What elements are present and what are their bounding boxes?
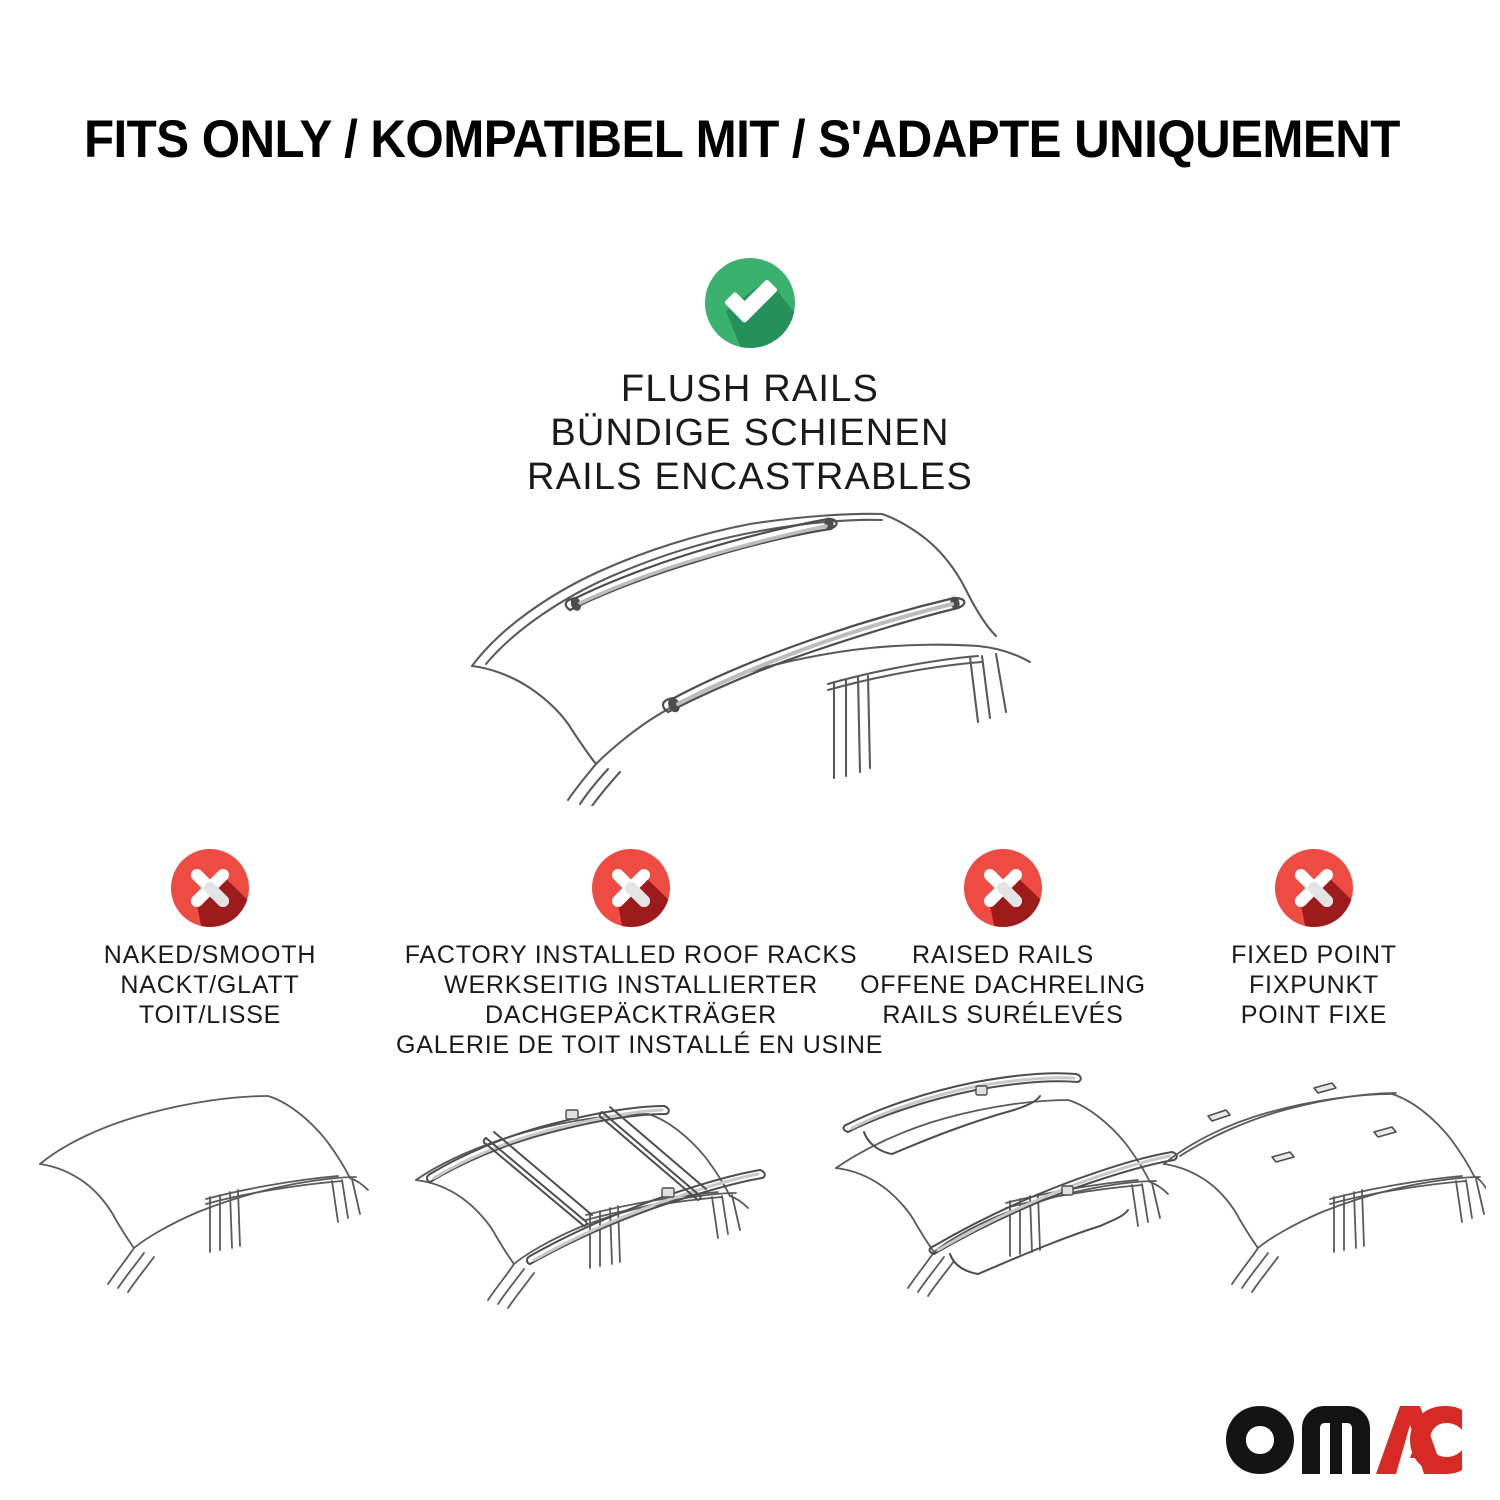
nofit-label-fr: POINT FIXE [1164, 1000, 1464, 1030]
nofit-label-group: RAISED RAILS OFFENE DACHRELING RAILS SUR… [848, 940, 1158, 1030]
nofit-column-naked-smooth: NAKED/SMOOTH NACKT/GLATT TOIT/LISSE [30, 846, 390, 1030]
fits-section: FLUSH RAILS BÜNDIGE SCHIENEN RAILS ENCAS… [0, 255, 1500, 499]
page-title: FITS ONLY / KOMPATIBEL MIT / S'ADAPTE UN… [84, 112, 1400, 168]
x-circle-icon [961, 846, 1045, 930]
header-bar: FITS ONLY / KOMPATIBEL MIT / S'ADAPTE UN… [0, 0, 1500, 210]
nofit-column-raised-rails: RAISED RAILS OFFENE DACHRELING RAILS SUR… [848, 846, 1158, 1030]
car-roof-naked-drawing [30, 1068, 390, 1358]
car-roof-flush-rails-drawing [430, 486, 1070, 806]
nofit-label-en: FIXED POINT [1164, 940, 1464, 970]
nofit-label-en: FACTORY INSTALLED ROOF RACKS [396, 940, 866, 970]
car-roof-factory-rack-drawing [386, 1098, 806, 1378]
fits-label-group: FLUSH RAILS BÜNDIGE SCHIENEN RAILS ENCAS… [0, 367, 1500, 499]
x-circle-icon [168, 846, 252, 930]
nofit-label-de-2: DACHGEPÄCKTRÄGER [396, 1000, 866, 1030]
nofit-label-de: NACKT/GLATT [30, 970, 390, 1000]
nofit-label-fr: GALERIE DE TOIT INSTALLÉ EN USINE [396, 1030, 866, 1060]
x-circle-icon [589, 846, 673, 930]
nofit-label-group: FACTORY INSTALLED ROOF RACKS WERKSEITIG … [396, 940, 866, 1060]
car-roof-raised-rails-drawing [800, 1068, 1200, 1348]
nofit-column-factory-roof-racks: FACTORY INSTALLED ROOF RACKS WERKSEITIG … [396, 846, 866, 1060]
nofit-label-group: NAKED/SMOOTH NACKT/GLATT TOIT/LISSE [30, 940, 390, 1030]
check-circle-icon [702, 255, 798, 351]
nofit-label-fr: RAILS SURÉLEVÉS [848, 1000, 1158, 1030]
nofit-label-en: RAISED RAILS [848, 940, 1158, 970]
nofit-label-de: FIXPUNKT [1164, 970, 1464, 1000]
not-compatible-section: NAKED/SMOOTH NACKT/GLATT TOIT/LISSE [0, 846, 1500, 1486]
nofit-label-de-1: WERKSEITIG INSTALLIERTER [396, 970, 866, 1000]
nofit-label-de: OFFENE DACHRELING [848, 970, 1158, 1000]
car-roof-fixed-point-drawing [1146, 1068, 1486, 1348]
nofit-label-en: NAKED/SMOOTH [30, 940, 390, 970]
fits-label-en: FLUSH RAILS [0, 367, 1500, 411]
fits-label-de: BÜNDIGE SCHIENEN [0, 411, 1500, 455]
nofit-label-group: FIXED POINT FIXPUNKT POINT FIXE [1164, 940, 1464, 1030]
nofit-column-fixed-point: FIXED POINT FIXPUNKT POINT FIXE [1164, 846, 1464, 1030]
x-circle-icon [1272, 846, 1356, 930]
nofit-label-fr: TOIT/LISSE [30, 1000, 390, 1030]
omac-logo [1224, 1404, 1464, 1476]
